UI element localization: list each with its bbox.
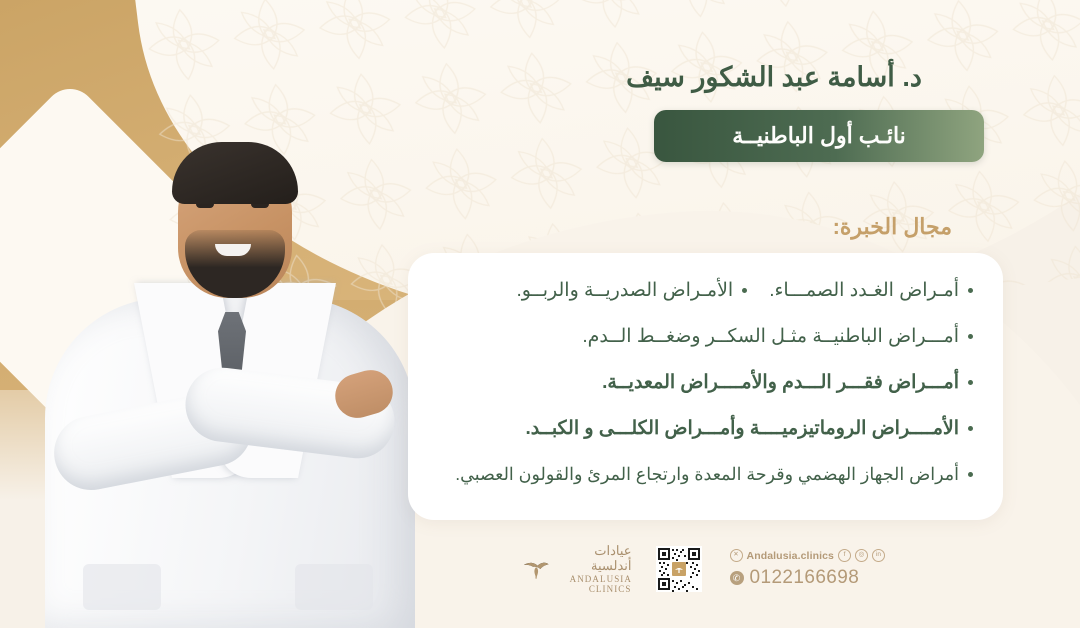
linkedin-icon[interactable]: in [872,549,885,562]
expertise-item-text: أمـراض الغـدد الصمـــاء. [769,279,959,302]
phone-row[interactable]: ✆ 0122166698 [730,567,885,589]
expertise-item: أمـــراض الباطنيــة مثـل السكــر وضغــط … [582,325,973,348]
bullet-dot-icon [968,380,973,385]
qr-code[interactable] [656,546,702,592]
bullet-dot-icon [968,426,973,431]
expertise-item-text: الأمــــراض الروماتيزميــــة وأمـــراض ا… [525,417,959,440]
social-handle-row[interactable]: ✕ Andalusia.clinics f ◎ in [730,549,885,562]
brand-name-arabic: عيادات أندلسية [557,544,631,574]
bullet-dot-icon [968,334,973,339]
social-handle-text: Andalusia.clinics [747,550,834,562]
expertise-row: أمـــراض فقـــر الـــدم والأمــــراض الم… [430,359,973,405]
expertise-row: أمراض الجهاز الهضمي وقرحة المعدة وارتجاع… [430,451,973,497]
hair [172,142,298,204]
expertise-item-text: أمراض الجهاز الهضمي وقرحة المعدة وارتجاع… [455,464,959,485]
contact-block: ✕ Andalusia.clinics f ◎ in ✆ 0122166698 [726,549,885,589]
phone-icon: ✆ [730,571,744,585]
falcon-logo-icon [522,554,550,584]
expertise-heading: مجال الخبرة: [833,214,952,240]
brand-logo: عيادات أندلسية ANDALUSIA CLINICS [522,544,632,595]
expertise-item-text: أمـــراض الباطنيــة مثـل السكــر وضغــط … [582,325,959,348]
poster-canvas: د. أسامة عبد الشكور سيف نائـب أول الباطن… [0,0,1080,628]
brand-name-english: ANDALUSIA CLINICS [557,574,631,595]
facebook-icon[interactable]: f [838,549,851,562]
expertise-item-text: أمـــراض فقـــر الـــدم والأمــــراض الم… [602,371,959,394]
bullet-dot-icon [968,472,973,477]
expertise-row: الأمــــراض الروماتيزميــــة وأمـــراض ا… [430,405,973,451]
expertise-item: الأمــــراض الروماتيزميــــة وأمـــراض ا… [525,417,973,440]
qr-code-icon [656,546,702,592]
doctor-title-badge: نائـب أول الباطنيــة [654,110,984,162]
expertise-card: أمـراض الغـدد الصمـــاء.الأمـراض الصدريـ… [408,253,1003,520]
doctor-portrait [35,58,425,628]
coat-pocket-left [83,564,161,610]
bullet-dot-icon [968,288,973,293]
doctor-name: د. أسامة عبد الشكور سيف [564,62,984,93]
expertise-item: أمـــراض فقـــر الـــدم والأمــــراض الم… [602,371,973,394]
expertise-item: أمراض الجهاز الهضمي وقرحة المعدة وارتجاع… [455,464,973,485]
phone-number: 0122166698 [750,567,860,589]
bullet-dot-icon [742,288,747,293]
x-icon[interactable]: ✕ [730,549,743,562]
expertise-list: أمـراض الغـدد الصمـــاء.الأمـراض الصدريـ… [408,253,1003,520]
expertise-item-text: الأمـراض الصدريــة والربــو. [517,279,734,302]
expertise-item: الأمـراض الصدريــة والربــو. [517,279,748,302]
expertise-item: أمـراض الغـدد الصمـــاء. [769,279,973,302]
expertise-row: أمـراض الغـدد الصمـــاء.الأمـراض الصدريـ… [430,267,973,313]
brand-text: عيادات أندلسية ANDALUSIA CLINICS [557,544,631,595]
expertise-row: أمـــراض الباطنيــة مثـل السكــر وضغــط … [430,313,973,359]
instagram-icon[interactable]: ◎ [855,549,868,562]
footer-bar: ✕ Andalusia.clinics f ◎ in ✆ 0122166698 [540,540,885,598]
coat-pocket-right [295,564,373,610]
